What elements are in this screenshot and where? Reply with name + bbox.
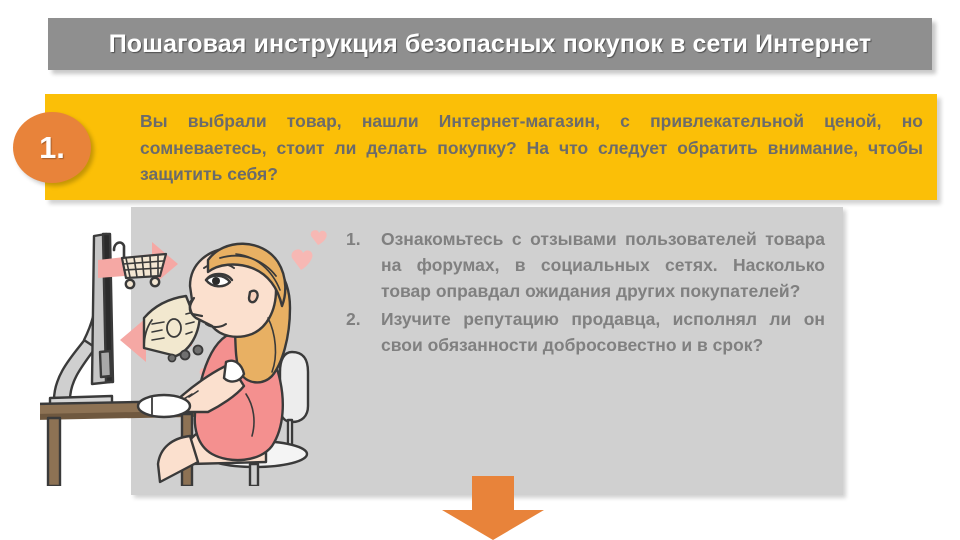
slide-root: Пошаговая инструкция безопасных покупок …: [0, 0, 960, 540]
list-item-marker: 2.: [346, 307, 372, 333]
list-item: 2. Изучите репутацию продавца, исполнял …: [340, 307, 825, 359]
woman-shopping-online-illustration: [40, 214, 340, 486]
down-arrow: [440, 476, 546, 540]
list-item-text: Ознакомьтесь с отзывами пользователей то…: [381, 227, 825, 305]
list-item-marker: 1.: [346, 227, 372, 253]
step-banner: Вы выбрали товар, нашли Интернет-магазин…: [45, 94, 937, 200]
step-banner-text: Вы выбрали товар, нашли Интернет-магазин…: [140, 108, 923, 188]
page-title: Пошаговая инструкция безопасных покупок …: [109, 30, 872, 59]
list-item: 1. Ознакомьтесь с отзывами пользователей…: [340, 227, 825, 305]
seated-woman: [158, 244, 290, 482]
task-list: 1. Ознакомьтесь с отзывами пользователей…: [340, 227, 825, 360]
list-item-text: Изучите репутацию продавца, исполнял ли …: [381, 307, 825, 359]
slide-title-bar: Пошаговая инструкция безопасных покупок …: [48, 18, 932, 70]
step-number-label: 1.: [39, 130, 65, 166]
step-number-badge: 1.: [13, 112, 91, 183]
computer-mouse: [138, 395, 190, 417]
